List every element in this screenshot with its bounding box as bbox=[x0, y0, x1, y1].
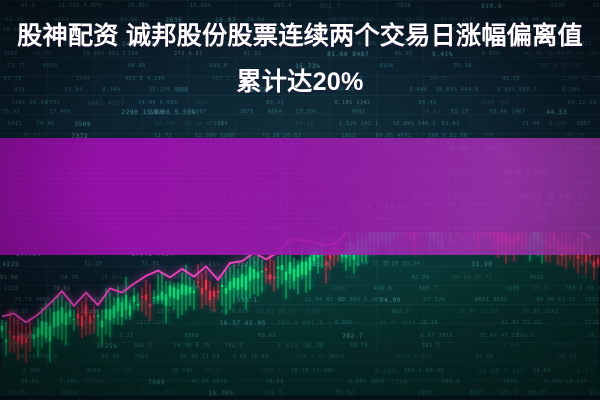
headline-text-block: 股神配资 诚邦股份股票连续两个交易日涨幅偏离值 累计达20% bbox=[0, 0, 600, 117]
promo-banner-image: 49.511.11% 4.97%16.85%16.09%457.4892.778… bbox=[0, 0, 600, 400]
headline-line-2: 累计达20% bbox=[236, 60, 363, 104]
headline-line-1: 股神配资 诚邦股份股票连续两个交易日涨幅偏离值 bbox=[17, 14, 583, 58]
